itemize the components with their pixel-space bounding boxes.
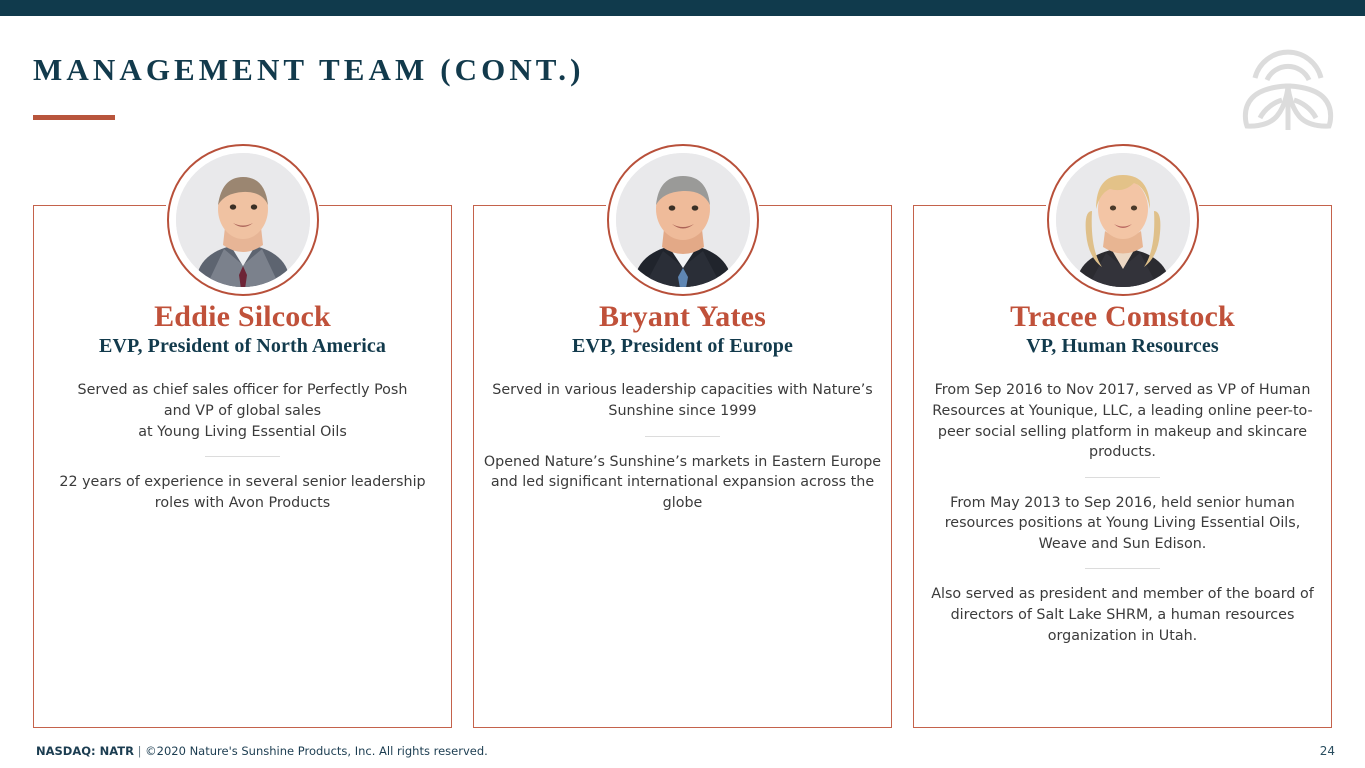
profile-card-1: Eddie Silcock EVP, President of North Am…: [33, 205, 452, 728]
bio-paragraph: Also served as president and member of t…: [921, 584, 1324, 646]
bio-paragraph: Opened Nature’s Sunshine’s markets in Ea…: [481, 452, 884, 514]
paragraph-divider: [645, 436, 720, 437]
card-border-bottom: [913, 727, 1332, 728]
footer-ticker: NASDAQ: NATR: [36, 744, 134, 758]
paragraph-divider: [1085, 477, 1160, 478]
card-border-top-right: [1199, 205, 1332, 206]
bio-paragraph: Served in various leadership capacities …: [481, 380, 884, 421]
card-border-top-right: [319, 205, 452, 206]
card-content-2: Bryant Yates EVP, President of Europe Se…: [473, 301, 892, 513]
footer-copyright-text: ©2020 Nature's Sunshine Products, Inc. A…: [145, 744, 488, 758]
paragraph-divider: [205, 456, 280, 457]
portrait-photo-bryant-yates: [616, 153, 750, 287]
page-title: MANAGEMENT TEAM (CONT.): [33, 52, 585, 88]
title-underline-accent: [33, 115, 115, 120]
card-border-bottom: [33, 727, 452, 728]
card-border-top-right: [759, 205, 892, 206]
bio-paragraph: From May 2013 to Sep 2016, held senior h…: [921, 493, 1324, 555]
profile-card-3: Tracee Comstock VP, Human Resources From…: [913, 205, 1332, 728]
bio-paragraph: 22 years of experience in several senior…: [41, 472, 444, 513]
person-name: Eddie Silcock: [41, 301, 444, 333]
avatar-ring: [1047, 144, 1199, 296]
bio-paragraph: From Sep 2016 to Nov 2017, served as VP …: [921, 380, 1324, 462]
portrait-photo-eddie-silcock: [176, 153, 310, 287]
avatar-ring: [167, 144, 319, 296]
natures-sunshine-leaf-logo-icon: [1233, 26, 1343, 132]
bio-paragraph: Served as chief sales officer for Perfec…: [41, 380, 444, 442]
card-border-top-left: [33, 205, 166, 206]
card-border-top-left: [473, 205, 606, 206]
profile-card-2: Bryant Yates EVP, President of Europe Se…: [473, 205, 892, 728]
avatar-ring: [607, 144, 759, 296]
top-accent-bar: [0, 0, 1365, 16]
card-border-bottom: [473, 727, 892, 728]
portrait-photo-tracee-comstock: [1056, 153, 1190, 287]
paragraph-divider: [1085, 568, 1160, 569]
footer-separator: |: [134, 744, 145, 758]
card-content-1: Eddie Silcock EVP, President of North Am…: [33, 301, 452, 513]
page-number: 24: [1320, 744, 1335, 758]
person-name: Bryant Yates: [481, 301, 884, 333]
person-name: Tracee Comstock: [921, 301, 1324, 333]
footer-copyright: NASDAQ: NATR | ©2020 Nature's Sunshine P…: [36, 744, 488, 758]
person-title: VP, Human Resources: [921, 335, 1324, 358]
person-title: EVP, President of North America: [41, 335, 444, 358]
card-border-top-left: [913, 205, 1046, 206]
person-title: EVP, President of Europe: [481, 335, 884, 358]
card-content-3: Tracee Comstock VP, Human Resources From…: [913, 301, 1332, 646]
